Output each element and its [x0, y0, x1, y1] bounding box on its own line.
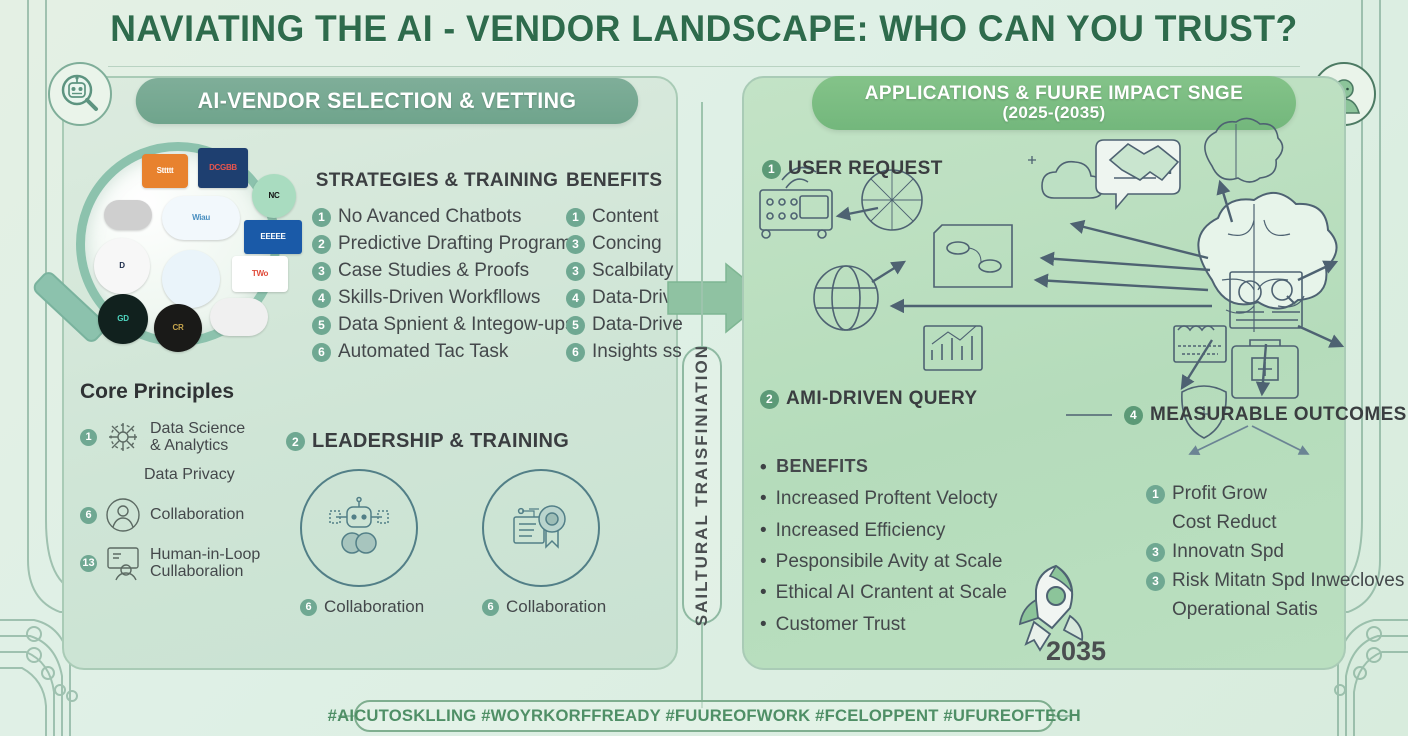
list-item-number: 1 [566, 208, 585, 227]
vendor-logo: CR [154, 304, 202, 352]
divider-line-top [701, 102, 703, 346]
core-principle-item: 1 Data Science & Analytics [80, 418, 320, 456]
leadership-card-caption: Collaboration [324, 597, 424, 617]
benefit-item: 3Scalbilaty [566, 258, 682, 285]
vendor-logo: Sttttt [142, 154, 188, 188]
right-benefit-label: Increased Efficiency [776, 515, 946, 546]
list-item-number: 3 [566, 262, 585, 281]
vendor-logo: EEEEE [244, 220, 302, 254]
vendor-logo: NC [252, 174, 296, 218]
outcome-item: Operational Satis [1146, 596, 1408, 625]
strategy-item: 2Predictive Drafting Programs [312, 231, 562, 258]
strategy-item: 5Data Spnient & Integow-ups [312, 312, 562, 339]
collaboration-icon [104, 496, 142, 534]
outcome-number: 3 [1146, 543, 1165, 562]
leadership-card-caption-row: 6 Collaboration [482, 597, 602, 617]
vendor-logo-label: EEEEE [260, 233, 285, 241]
left-panel-header: AI-VENDOR SELECTION & VETTING [136, 78, 638, 124]
core-item-number: 6 [80, 507, 97, 524]
vendor-logo: D [94, 238, 150, 294]
step-number: 2 [760, 390, 779, 409]
list-item-label: Case Studies & Proofs [338, 258, 529, 285]
right-benefit-label: Pesponsibile Avity at Scale [776, 546, 1003, 577]
leadership-card: 6 Collaboration [482, 469, 602, 617]
right-panel-header-line1: APPLICATIONS & FUURE IMPACT SNGE [865, 84, 1243, 104]
vendor-logo-label: CR [173, 324, 184, 332]
data-science-icon [104, 418, 142, 456]
strategy-item: 3Case Studies & Proofs [312, 258, 562, 285]
list-item-label: Concing [592, 231, 662, 258]
leadership-card-caption: Collaboration [506, 597, 606, 617]
vendor-logo [162, 250, 220, 308]
strategy-item: 4Skills-Driven Workfllows [312, 285, 562, 312]
step-user-request: 1 USER REQUEST [762, 158, 943, 180]
page-title-wrap: NAVIATING THE AI - VENDOR LANDSCAPE: WHO… [0, 8, 1408, 50]
list-item-number: 5 [312, 316, 331, 335]
outcome-item: Cost Reduct [1146, 509, 1408, 538]
vendor-logo: GD [98, 294, 148, 344]
right-benefit-label: BENEFITS [776, 452, 868, 482]
benefits-section: BENEFITS 1Content3Concing3Scalbilaty4Dat… [566, 170, 682, 366]
vendor-logo: DCGBB [198, 148, 248, 188]
cultural-transformation-label: SAILTURAL TRAISFINIATION [692, 344, 712, 626]
list-item-label: Insights ss [592, 339, 682, 366]
benefit-item: 1Content [566, 204, 682, 231]
outcome-label: Cost Reduct [1172, 509, 1277, 538]
benefit-item: 6Insights ss [566, 339, 682, 366]
core-principles-title: Core Principles [80, 380, 320, 404]
outcome-item: 3Innovatn Spd [1146, 538, 1408, 567]
core-item-number: 1 [80, 429, 97, 446]
list-item-number: 3 [566, 235, 585, 254]
step-number: 1 [762, 160, 781, 179]
vendor-logo-label: D [119, 262, 124, 270]
list-item-number: 3 [312, 262, 331, 281]
benefit-item: 4Data-Driven [566, 285, 682, 312]
outcomes-split-arrows [1180, 424, 1320, 460]
vendor-logos-magnifier: StttttDCGBBNCWiauEEEEEDTWoGDCR [76, 142, 280, 346]
benefits-title: BENEFITS [566, 170, 682, 192]
outcome-number: 1 [1146, 485, 1165, 504]
list-item-label: Automated Tac Task [338, 339, 508, 366]
bullet-icon: • [760, 483, 767, 514]
robot-network-icon [300, 469, 418, 587]
step-number: 4 [1124, 406, 1143, 425]
right-benefit-label: Customer Trust [776, 609, 906, 640]
list-item-label: No Avanced Chatbots [338, 204, 521, 231]
hashtag-banner: #AICUTOSKLLING #WOYRKORFFREADY #FUUREOFW… [354, 700, 1054, 732]
core-item-label: Data Science & Analytics [150, 420, 245, 455]
core-item-number: 13 [80, 555, 97, 572]
list-item-number: 4 [566, 289, 585, 308]
step-label-text: USER REQUEST [788, 158, 943, 180]
step-measurable-outcomes: 4 MEASURABLE OUTCOMES [1124, 404, 1407, 426]
hashtag-text: #AICUTOSKLLING #WOYRKORFFREADY #FUUREOFW… [327, 706, 1080, 726]
step-label-text: AMI-DRIVEN QUERY [786, 388, 977, 410]
divider-line-bottom [701, 624, 703, 708]
leadership-card-number: 6 [300, 599, 317, 616]
strategies-section: STRATEGIES & TRAINING 1No Avanced Chatbo… [312, 170, 562, 366]
vendor-logo [104, 200, 152, 230]
vendor-logo-label: GD [117, 315, 128, 323]
leadership-card-caption-row: 6 Collaboration [300, 597, 420, 617]
list-item-number: 6 [312, 343, 331, 362]
leadership-card: 6 Collaboration [300, 469, 420, 617]
right-benefit-item: •Increased Efficiency [760, 515, 1120, 546]
strategies-title: STRATEGIES & TRAINING [312, 170, 562, 192]
outcome-label: Risk Mitatn Spd Inwecloves [1172, 567, 1404, 596]
outcome-number: 3 [1146, 572, 1165, 591]
benefit-item: 5Data-Driven [566, 312, 682, 339]
outcomes-leader-line [1066, 404, 1126, 426]
vendor-logo: Wiau [162, 196, 240, 240]
list-item-number: 1 [312, 208, 331, 227]
measurable-outcomes-list: 1Profit GrowCost Reduct3Innovatn Spd3Ris… [1146, 480, 1408, 624]
strategy-item: 6Automated Tac Task [312, 339, 562, 366]
leadership-card-number: 6 [482, 599, 499, 616]
right-benefit-item: •BENEFITS [760, 452, 1120, 483]
core-principle-item: 13 Human-in-Loop Cullaboralion [80, 544, 320, 582]
list-item-number: 5 [566, 316, 585, 335]
left-panel-header-label: AI-VENDOR SELECTION & VETTING [198, 88, 577, 114]
core-principles-section: Core Principles 1 Data Science & Analyti… [80, 380, 320, 592]
vendor-logo: TWo [232, 256, 288, 292]
outcome-item: 1Profit Grow [1146, 480, 1408, 509]
right-benefit-label: Increased Proftent Velocty [776, 483, 998, 514]
bullet-icon: • [760, 452, 767, 483]
core-item-label: Human-in-Loop Cullaboralion [150, 546, 260, 581]
magnifier-robot-icon [48, 62, 112, 126]
rocket-year-label: 2035 [1046, 636, 1106, 667]
leadership-title: LEADERSHIP & TRAINING [312, 430, 569, 453]
right-benefit-label: Ethical AI Crantent at Scale [776, 577, 1007, 608]
strategy-item: 1No Avanced Chatbots [312, 204, 562, 231]
list-item-label: Skills-Driven Workfllows [338, 285, 540, 312]
benefit-item: 3Concing [566, 231, 682, 258]
vendor-logo-label: DCGBB [209, 164, 237, 172]
outcome-label: Innovatn Spd [1172, 538, 1284, 567]
vendor-logo [210, 298, 268, 336]
bullet-icon: • [760, 546, 767, 577]
outcome-label: Profit Grow [1172, 480, 1267, 509]
step-ai-driven-query: 2 AMI-DRIVEN QUERY [760, 388, 977, 410]
leadership-section: 2 LEADERSHIP & TRAINING 6 Collaboration [286, 430, 656, 617]
list-item-label: Content [592, 204, 659, 231]
vendor-logo-label: Wiau [192, 214, 210, 222]
list-item-label: Predictive Drafting Programs [338, 231, 581, 258]
vendor-logo-label: Sttttt [157, 167, 174, 175]
step-label-text: MEASURABLE OUTCOMES [1150, 404, 1407, 426]
right-panel-header: APPLICATIONS & FUURE IMPACT SNGE (2025-(… [812, 76, 1296, 130]
page-title: NAVIATING THE AI - VENDOR LANDSCAPE: WHO… [28, 8, 1380, 50]
cultural-transformation-pill: SAILTURAL TRAISFINIATION [682, 346, 722, 624]
outcome-item: 3Risk Mitatn Spd Inwecloves [1146, 567, 1408, 596]
certificate-badge-icon [482, 469, 600, 587]
vendor-logo-label: NC [269, 192, 280, 200]
bullet-icon: • [760, 515, 767, 546]
leadership-title-row: 2 LEADERSHIP & TRAINING [286, 430, 656, 453]
list-item-number: 2 [312, 235, 331, 254]
list-item-number: 4 [312, 289, 331, 308]
human-in-loop-icon [104, 544, 142, 582]
core-item-label: Collaboration [150, 506, 244, 523]
right-benefit-item: •Increased Proftent Velocty [760, 483, 1120, 514]
bullet-icon: • [760, 609, 767, 640]
list-item-label: Data Spnient & Integow-ups [338, 312, 575, 339]
right-panel-header-line2: (2025-(2035) [1002, 104, 1105, 122]
bullet-icon: • [760, 577, 767, 608]
outcome-label: Operational Satis [1172, 596, 1318, 625]
list-item-number: 6 [566, 343, 585, 362]
core-principle-item: 6 Collaboration [80, 496, 320, 534]
leadership-number: 2 [286, 432, 305, 451]
vendor-logo-label: TWo [252, 270, 268, 278]
title-divider-rule [108, 66, 1300, 67]
list-item-label: Scalbilaty [592, 258, 673, 285]
